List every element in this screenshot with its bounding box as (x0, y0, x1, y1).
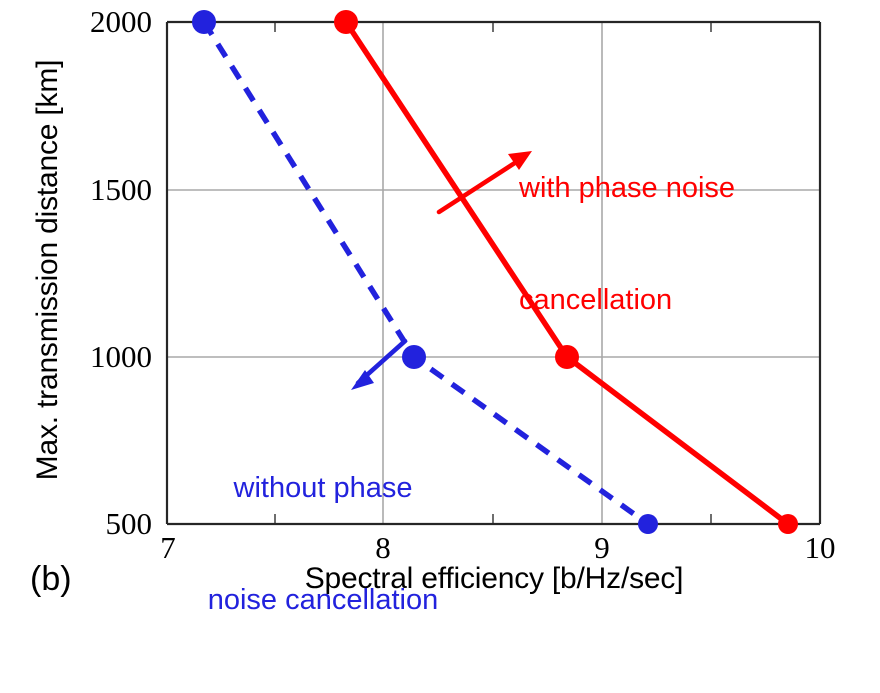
annotation-with-phase-noise-cancellation: with phase noise cancellation (519, 96, 735, 393)
data-point (778, 514, 798, 534)
figure-panel-b: 2000 1500 1000 500 7 8 9 10 Max. transmi… (0, 0, 880, 631)
panel-label: (b) (30, 560, 72, 599)
data-point (192, 10, 216, 34)
data-point (638, 514, 658, 534)
y-tick-1000: 1000 (74, 341, 152, 372)
data-point (402, 345, 426, 369)
x-tick-9: 9 (582, 532, 622, 563)
annotation-red-line2: cancellation (519, 282, 735, 319)
annotation-blue-line1: without phase (168, 470, 478, 507)
y-tick-2000: 2000 (74, 6, 152, 37)
y-axis-title: Max. transmission distance [km] (31, 10, 65, 530)
data-point (334, 10, 358, 34)
blue-annotation-arrow (351, 341, 405, 390)
annotation-red-line1: with phase noise (519, 170, 735, 207)
y-tick-500: 500 (74, 508, 152, 539)
annotation-blue-line2: noise cancellation (168, 582, 478, 619)
x-tick-10: 10 (800, 532, 840, 563)
y-tick-1500: 1500 (74, 174, 152, 205)
annotation-without-phase-noise-cancellation: without phase noise cancellation (168, 396, 478, 693)
